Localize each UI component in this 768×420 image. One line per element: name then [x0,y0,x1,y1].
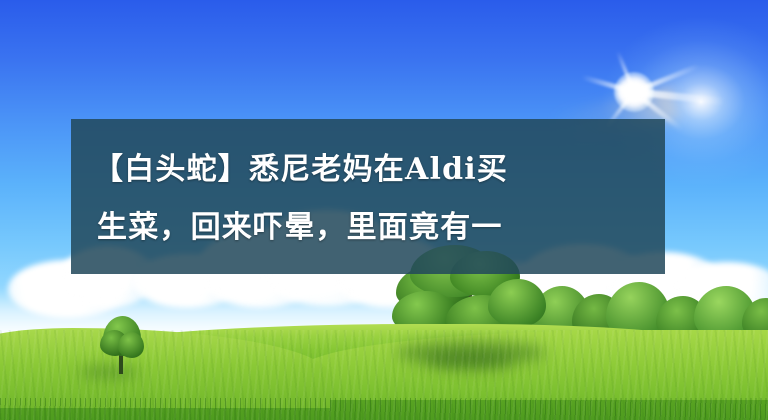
sun-core [614,72,654,112]
headline-text: 【白头蛇】悉尼老妈在Aldi买 生菜，回来吓晕，里面竟有一 [93,141,643,257]
title-overlay-panel: 【白头蛇】悉尼老妈在Aldi买 生菜，回来吓晕，里面竟有一 [71,119,665,274]
headline-line-2: 生菜，回来吓晕，里面竟有一 [93,199,643,257]
thumbnail-image: 【白头蛇】悉尼老妈在Aldi买 生菜，回来吓晕，里面竟有一 [0,0,768,420]
tree-shadow [424,352,514,370]
tree-shadow-small [78,366,140,378]
headline-line-1: 【白头蛇】悉尼老妈在Aldi买 [93,141,643,199]
